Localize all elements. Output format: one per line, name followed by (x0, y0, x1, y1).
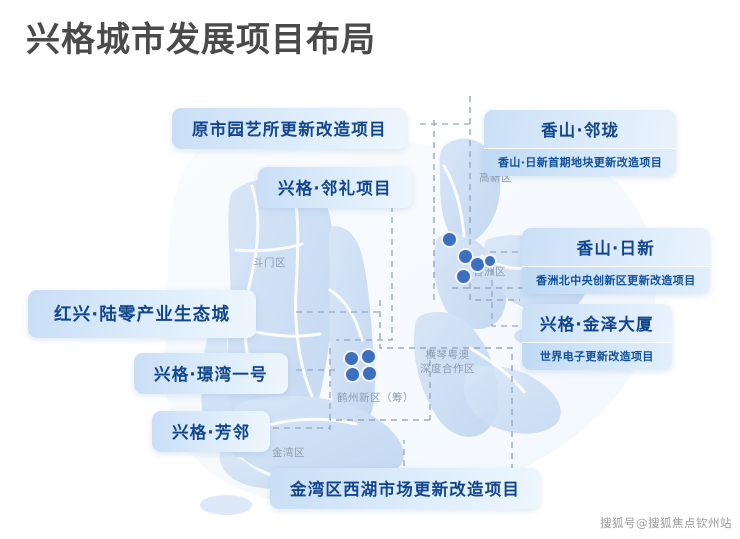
callout-subtitle: 世界电子更新改造项目 (522, 342, 672, 370)
callout-title: 香山·邻珑 (484, 110, 676, 148)
callout-xiangshan-rixin[interactable]: 香山·日新 香洲北中央创新区更新改造项目 (522, 228, 710, 294)
watermark: 搜狐号@搜狐焦点钦州站 (600, 515, 732, 531)
region-label-jinwan: 金湾区 (272, 446, 305, 460)
map-dot-cluster-a[interactable] (343, 350, 360, 367)
callout-title: 红兴·陆零产业生态城 (28, 290, 256, 338)
callout-title: 原市园艺所更新改造项目 (172, 108, 407, 149)
map-dot-cluster-d[interactable] (361, 365, 378, 382)
region-label-hengqin: 横琴粤澳深度合作区 (420, 348, 475, 376)
callout-xingge-jinze-mansion[interactable]: 兴格·金泽大厦 世界电子更新改造项目 (522, 304, 672, 370)
map-dot-xiangzhou-south[interactable] (455, 268, 472, 285)
callout-title: 金湾区西湖市场更新改造项目 (270, 468, 540, 509)
callout-subtitle: 香洲北中央创新区更新改造项目 (522, 266, 710, 294)
callout-jinwan-xihu-market[interactable]: 金湾区西湖市场更新改造项目 (270, 468, 540, 509)
infographic-canvas: 兴格城市发展项目布局 (0, 0, 740, 539)
callout-xingge-jingwan[interactable]: 兴格·璟湾一号 (134, 353, 288, 394)
callout-xingge-fanglin[interactable]: 兴格·芳邻 (152, 411, 270, 452)
map-dot-cluster-c[interactable] (344, 366, 361, 383)
callout-hongxing-luling[interactable]: 红兴·陆零产业生态城 (28, 290, 256, 338)
callout-title: 兴格·金泽大厦 (522, 304, 672, 342)
callout-title: 兴格·璟湾一号 (134, 353, 288, 394)
callout-xiangshan-linglong[interactable]: 香山·邻珑 香山·日新首期地块更新改造项目 (484, 110, 676, 176)
callout-title: 香山·日新 (522, 228, 710, 266)
region-label-hezhou: 鹤州新区（筹） (337, 391, 414, 405)
map-dot-xiangshan-linglong[interactable] (441, 231, 458, 248)
map-dot-cluster-b[interactable] (360, 348, 377, 365)
callout-yuanshi-yuanyisuo[interactable]: 原市园艺所更新改造项目 (172, 108, 407, 149)
callout-xingge-linli[interactable]: 兴格·邻礼项目 (258, 167, 412, 208)
callout-title: 兴格·芳邻 (152, 411, 270, 452)
callout-subtitle: 香山·日新首期地块更新改造项目 (484, 148, 676, 176)
callout-title: 兴格·邻礼项目 (258, 167, 412, 208)
region-label-doumen: 斗门区 (253, 256, 286, 270)
map-dot-xiangzhou-extra[interactable] (483, 254, 497, 268)
